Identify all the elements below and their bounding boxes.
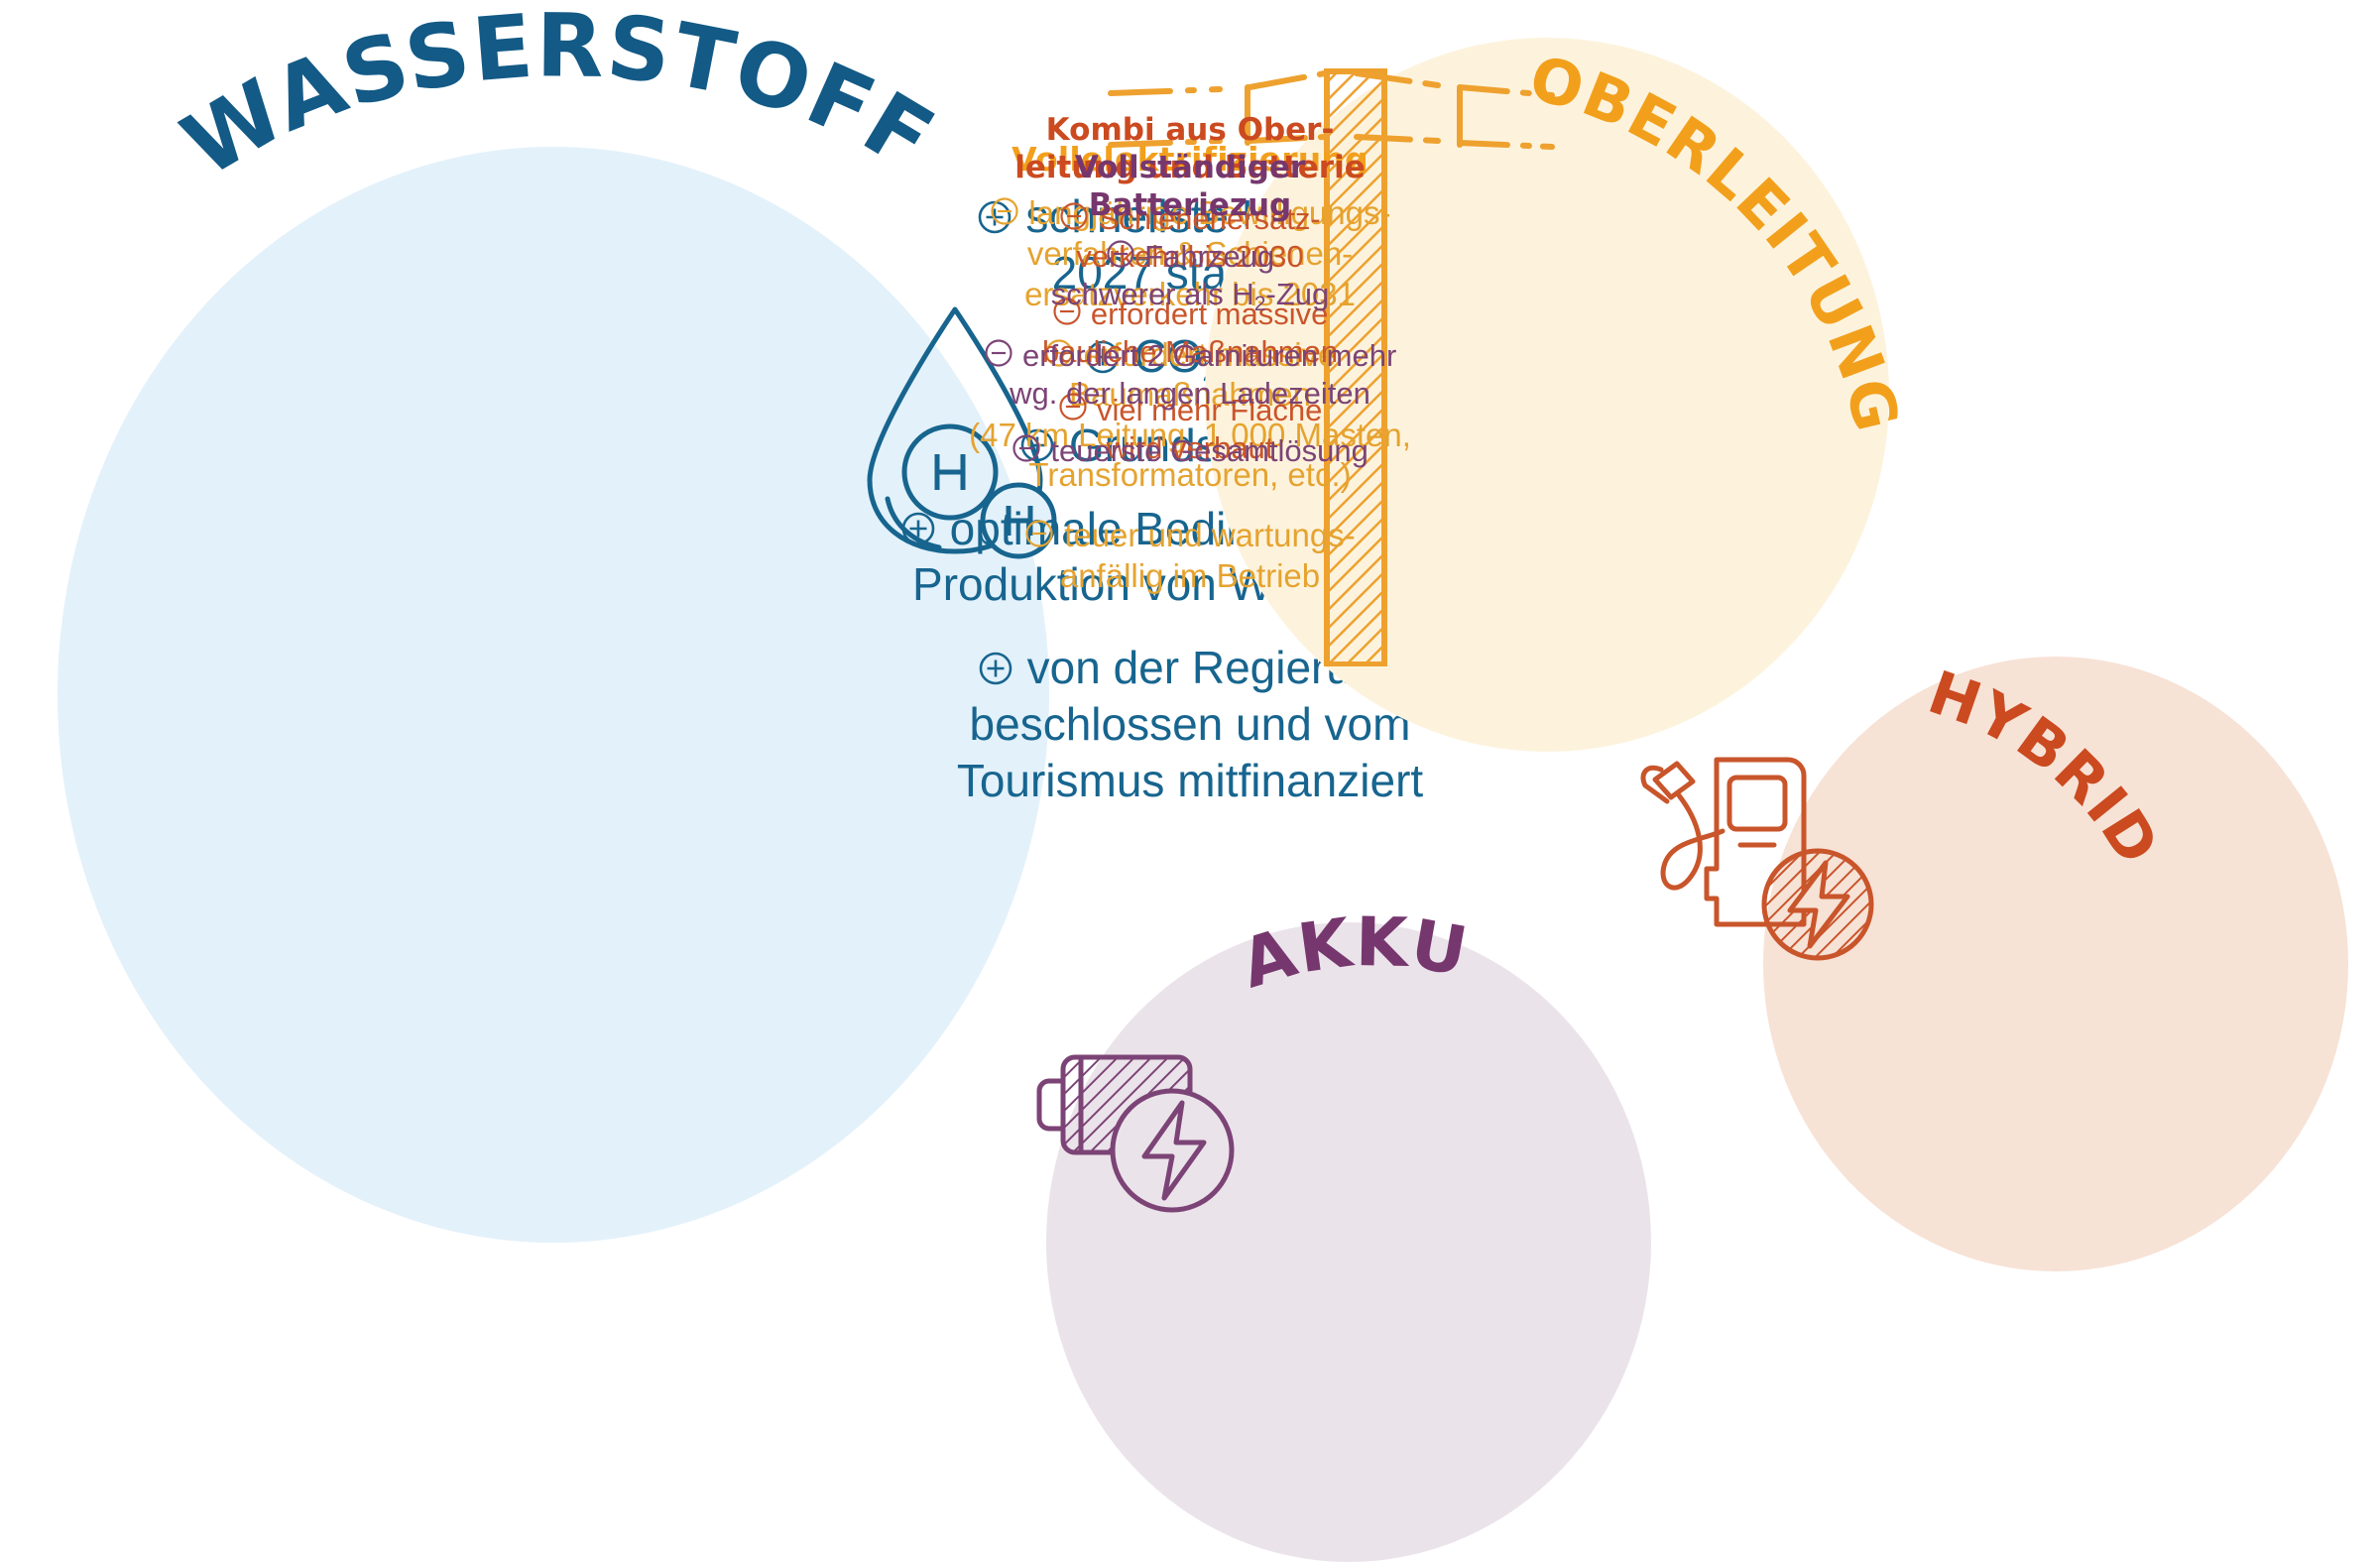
battery-item-1-pre: schwerer als H — [1051, 277, 1254, 311]
battery-item-2-line-2: wg. der langen Ladezeiten — [20, 375, 2360, 413]
minus-circle-icon — [1024, 519, 1054, 548]
hybrid-heading-line-1: Kombi aus Ober- — [30, 111, 2350, 149]
battery-body: Vollständiger Batteriezug Fahrzeug schwe… — [0, 149, 2380, 470]
plus-circle-icon — [978, 651, 1013, 686]
infographic-canvas: WASSERSTOFF schnellste Lösung, 2027 star… — [0, 0, 2380, 1562]
battery-item-3-line-1: teuerste Gesamtlösung — [1050, 433, 1368, 468]
catenary-item-3-line-2: anfällig im Betrieb — [36, 556, 2344, 597]
catenary-item-3-line-1: teuer und wartungs- — [1064, 517, 1356, 553]
minus-circle-icon — [1011, 433, 1041, 463]
minus-circle-icon — [984, 338, 1013, 368]
catenary-item-3: teuer und wartungs- anfällig im Betrieb — [36, 516, 2344, 596]
battery-item-1: Fahrzeug schwerer als H2-Zug — [20, 237, 2360, 317]
charging-station-icon — [1631, 736, 1879, 974]
battery-item-3: teuerste Gesamtlösung — [20, 431, 2360, 470]
battery-item-2: erfordert 2 Garnituren mehr wg. der lang… — [20, 336, 2360, 413]
battery-item-1-sub: 2 — [1254, 293, 1266, 315]
battery-heading-line-1: Vollständiger — [20, 149, 2360, 186]
battery-item-2-line-1: erfordert 2 Garnituren mehr — [1022, 338, 1396, 373]
minus-circle-icon — [1106, 239, 1135, 269]
battery-bolt-icon — [1033, 1039, 1251, 1223]
battery-heading-line-2: Batteriezug — [20, 186, 2360, 224]
battery-bubble — [1046, 922, 1651, 1562]
battery-item-1-post: -Zug — [1265, 277, 1329, 311]
battery-heading: Vollständiger Batteriezug — [20, 149, 2360, 224]
battery-item-1-line-1: Fahrzeug — [1144, 239, 1274, 274]
